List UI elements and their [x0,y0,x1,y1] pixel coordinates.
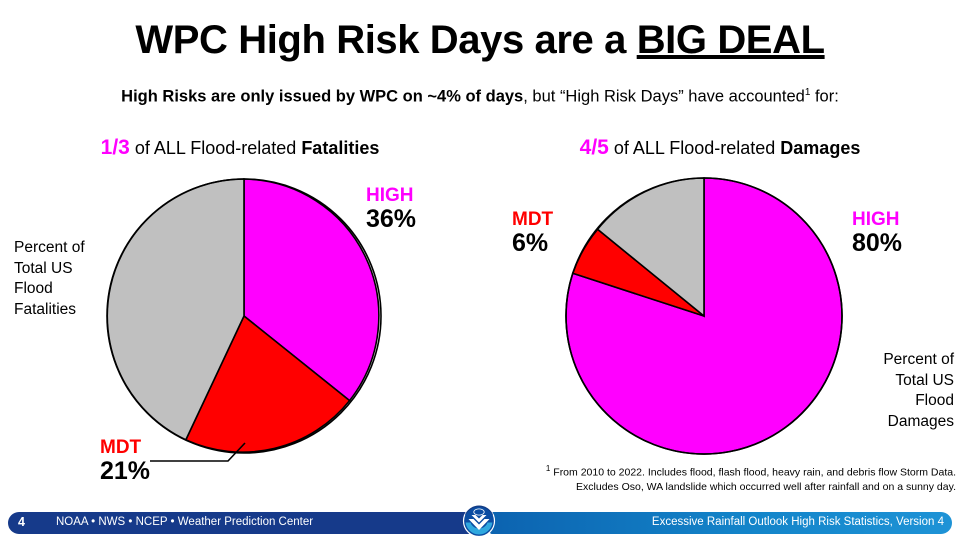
right-high-category: HIGH [852,210,902,230]
left-high-value: 36% [366,206,416,233]
left-side-caption-l3: Flood [14,280,53,297]
right-high-callout: HIGH 80% [852,210,902,257]
left-side-caption-l1: Percent of [14,239,85,256]
left-high-callout: HIGH 36% [366,186,416,233]
page-title: WPC High Risk Days are a BIG DEAL [0,18,960,63]
noaa-logo-icon [456,501,502,540]
page-number: 4 [18,515,25,529]
title-emphasis: BIG DEAL [637,18,825,62]
title-main: WPC High Risk Days are a [135,18,636,62]
right-mdt-value: 6% [512,230,553,257]
subtitle-tail: for: [810,88,838,106]
damages-pie-svg [564,176,844,456]
right-heading-bold: Damages [780,138,860,158]
right-mdt-callout: MDT 6% [512,210,553,257]
subtitle: High Risks are only issued by WPC on ~4%… [0,87,960,107]
right-side-caption-l3: Flood [915,392,954,409]
right-high-value: 80% [852,230,902,257]
left-side-caption: Percent of Total US Flood Fatalities [14,238,124,320]
left-panel-heading: 1/3 of ALL Flood-related Fatalities [0,136,480,160]
right-side-caption-l1: Percent of [883,351,954,368]
left-mdt-value: 21% [100,458,150,485]
left-heading-bold: Fatalities [301,138,379,158]
slide-root: WPC High Risk Days are a BIG DEAL High R… [0,0,960,540]
footnote-line2: Excludes Oso, WA landslide which occurre… [512,480,956,495]
subtitle-bold: High Risks are only issued by WPC on ~4%… [121,88,523,106]
left-heading-regular: of ALL Flood-related [130,138,301,158]
subtitle-regular: , but “High Risk Days” have accounted [523,88,805,106]
mdt-leader-line-left [150,437,280,469]
left-side-caption-l4: Fatalities [14,301,76,318]
right-side-caption: Percent of Total US Flood Damages [846,350,954,432]
footer-doc-title: Excessive Rainfall Outlook High Risk Sta… [652,516,944,528]
right-fraction: 4/5 [580,136,609,159]
right-panel-heading: 4/5 of ALL Flood-related Damages [480,136,960,160]
left-mdt-category: MDT [100,438,150,458]
right-side-caption-l4: Damages [888,413,954,430]
left-high-category: HIGH [366,186,416,206]
left-side-caption-l2: Total US [14,260,73,277]
right-side-caption-l2: Total US [895,372,954,389]
footer-org-text: NOAA • NWS • NCEP • Weather Prediction C… [56,516,313,528]
fatalities-pie-chart [105,177,383,455]
damages-pie-chart [564,176,844,456]
right-heading-regular: of ALL Flood-related [609,138,780,158]
left-mdt-callout: MDT 21% [100,438,150,485]
footnote: 1 From 2010 to 2022. Includes flood, fla… [512,463,956,495]
left-fraction: 1/3 [101,136,130,159]
footnote-line1: From 2010 to 2022. Includes flood, flash… [550,467,956,479]
right-mdt-category: MDT [512,210,553,230]
fatalities-pie-svg [105,177,383,455]
